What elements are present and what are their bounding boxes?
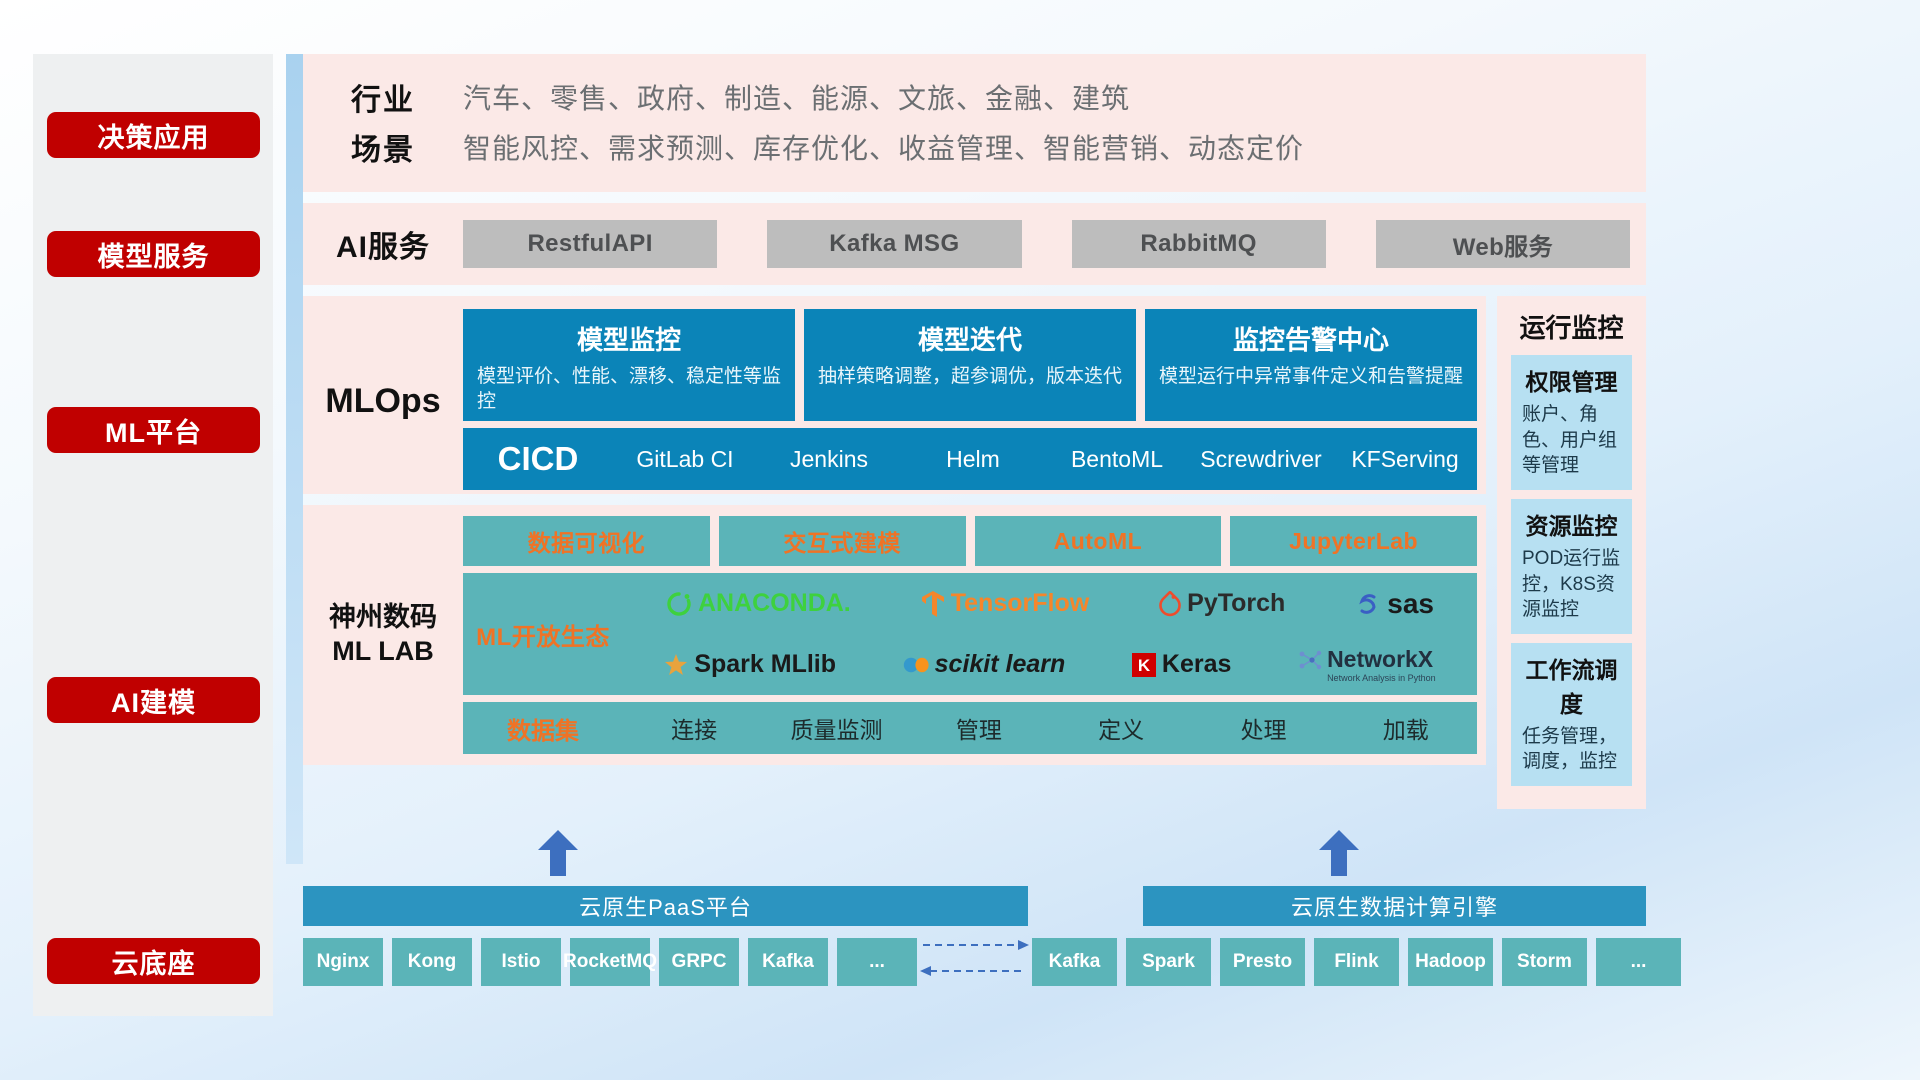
up-arrow-paas-icon	[538, 830, 578, 876]
cicd-label: CICD	[463, 440, 613, 478]
industry-row: 行业 汽车、零售、政府、制造、能源、文旅、金融、建筑	[303, 72, 1646, 122]
monitoring-card-permission[interactable]: 权限管理 账户、角色、用户组等管理	[1511, 355, 1632, 490]
spark-mllib-label: Spark MLlib	[694, 650, 836, 679]
card-title: 权限管理	[1522, 363, 1621, 397]
cicd-item-jenkins[interactable]: Jenkins	[757, 447, 901, 471]
ml-ecosystem-logos: ANACONDA. TensorFlow	[623, 573, 1477, 695]
paas-chip-kong[interactable]: Kong	[392, 938, 472, 986]
ai-service-chip-web[interactable]: Web服务	[1376, 220, 1630, 268]
ml-ecosystem-logo-row-2: Spark MLlib scikit learn	[623, 634, 1477, 695]
modeling-tool-tabs: 数据可视化 交互式建模 AutoML JupyterLab	[463, 516, 1477, 566]
card-title: 模型迭代	[818, 320, 1122, 357]
mlops-card-model-iteration[interactable]: 模型迭代 抽样策略调整，超参调优，版本迭代	[804, 309, 1136, 421]
scikit-learn-logo: scikit learn	[903, 650, 1066, 679]
anaconda-logo: ANACONDA.	[666, 589, 851, 618]
scikit-learn-icon	[903, 654, 929, 676]
networkx-label: NetworkX	[1327, 646, 1433, 673]
cloud-bars: 云原生PaaS平台 云原生数据计算引擎	[303, 886, 1646, 926]
paas-chip-grpc[interactable]: GRPC	[659, 938, 739, 986]
scenario-label: 场景	[303, 125, 463, 169]
cicd-bar: CICD GitLab CI Jenkins Helm BentoML Scre…	[463, 428, 1477, 490]
layer-pill-label: 云底座	[112, 942, 196, 981]
layer-pill-label: 模型服务	[98, 235, 210, 274]
paas-chip-nginx[interactable]: Nginx	[303, 938, 383, 986]
monitoring-card-workflow[interactable]: 工作流调度 任务管理，调度，监控	[1511, 643, 1632, 786]
dataset-item-load[interactable]: 加载	[1335, 711, 1477, 745]
keras-logo: K Keras	[1132, 650, 1232, 679]
anaconda-icon	[666, 591, 692, 617]
engine-chip-group: Kafka Spark Presto Flink Hadoop Storm ..…	[1032, 938, 1681, 986]
pytorch-icon	[1159, 591, 1181, 617]
scikit-learn-label: scikit learn	[935, 650, 1066, 679]
layer-pill-label: ML平台	[105, 411, 202, 450]
card-title: 工作流调度	[1522, 651, 1621, 719]
layer-pill-ml-platform[interactable]: ML平台	[47, 407, 260, 453]
tool-tab-jupyterlab[interactable]: JupyterLab	[1230, 516, 1477, 566]
dataset-item-process[interactable]: 处理	[1192, 711, 1334, 745]
layer-pill-model-service[interactable]: 模型服务	[47, 231, 260, 277]
dataset-row: 数据集 连接 质量监测 管理 定义 处理 加载	[463, 702, 1477, 754]
networkx-logo: NetworkX Network Analysis in Python	[1298, 646, 1436, 683]
dataset-item-connect[interactable]: 连接	[623, 711, 765, 745]
mlops-card-model-monitoring[interactable]: 模型监控 模型评价、性能、漂移、稳定性等监控	[463, 309, 795, 421]
card-desc: 抽样策略调整，超参调优，版本迭代	[818, 364, 1122, 389]
tensorflow-label: TensorFlow	[951, 589, 1089, 618]
pytorch-label: PyTorch	[1187, 589, 1285, 618]
ai-service-items: RestfulAPI Kafka MSG RabbitMQ Web服务	[463, 220, 1646, 268]
main-column: 行业 汽车、零售、政府、制造、能源、文旅、金融、建筑 场景 智能风控、需求预测、…	[303, 54, 1646, 809]
pytorch-logo: PyTorch	[1159, 589, 1285, 618]
cloud-base-section: 云原生PaaS平台 云原生数据计算引擎 Nginx Kong Istio Roc…	[303, 886, 1646, 988]
paas-chip-rocketmq[interactable]: RocketMQ	[570, 938, 650, 986]
mlops-body: 模型监控 模型评价、性能、漂移、稳定性等监控 模型迭代 抽样策略调整，超参调优，…	[463, 309, 1486, 494]
cloud-bar-paas[interactable]: 云原生PaaS平台	[303, 886, 1028, 926]
ml-ecosystem-logo-row-1: ANACONDA. TensorFlow	[623, 573, 1477, 634]
engine-chip-storm[interactable]: Storm	[1502, 938, 1587, 986]
industry-value: 汽车、零售、政府、制造、能源、文旅、金融、建筑	[463, 77, 1130, 117]
ml-lab-label-line2: ML LAB	[332, 635, 434, 669]
cicd-item-screwdriver[interactable]: Screwdriver	[1189, 447, 1333, 471]
cloud-bar-engine[interactable]: 云原生数据计算引擎	[1143, 886, 1646, 926]
bidirectional-dashed-arrows-icon	[917, 935, 1032, 983]
card-title: 监控告警中心	[1159, 320, 1463, 357]
card-title: 模型监控	[477, 320, 781, 357]
sas-logo: sas	[1355, 588, 1434, 620]
keras-icon: K	[1132, 653, 1156, 677]
monitoring-card-resource[interactable]: 资源监控 POD运行监控，K8S资源监控	[1511, 499, 1632, 634]
card-title: 资源监控	[1522, 507, 1621, 541]
mlops-band: MLOps 模型监控 模型评价、性能、漂移、稳定性等监控 模型迭代 抽样策略调整…	[303, 296, 1486, 494]
ml-lab-label-line1: 神州数码	[329, 601, 437, 635]
dataset-item-manage[interactable]: 管理	[908, 711, 1050, 745]
layer-pill-label: 决策应用	[98, 116, 210, 155]
mlops-cards: 模型监控 模型评价、性能、漂移、稳定性等监控 模型迭代 抽样策略调整，超参调优，…	[463, 309, 1477, 421]
card-desc: 模型评价、性能、漂移、稳定性等监控	[477, 364, 781, 414]
cicd-item-helm[interactable]: Helm	[901, 447, 1045, 471]
ai-service-chip-kafka-msg[interactable]: Kafka MSG	[767, 220, 1021, 268]
card-desc: 任务管理，调度，监控	[1522, 724, 1621, 775]
ai-service-band: AI服务 RestfulAPI Kafka MSG RabbitMQ Web服务	[303, 203, 1646, 285]
ml-ecosystem-row: ML开放生态 ANACONDA.	[463, 573, 1477, 695]
up-arrow-engine-icon	[1319, 830, 1359, 876]
mlops-card-alert-center[interactable]: 监控告警中心 模型运行中异常事件定义和告警提醒	[1145, 309, 1477, 421]
engine-chip-flink[interactable]: Flink	[1314, 938, 1399, 986]
engine-chip-hadoop[interactable]: Hadoop	[1408, 938, 1493, 986]
dataset-label: 数据集	[463, 711, 623, 746]
ai-modeling-body: 数据可视化 交互式建模 AutoML JupyterLab ML开放生态	[463, 516, 1486, 754]
spark-icon	[664, 653, 688, 677]
paas-chip-more[interactable]: ...	[837, 938, 917, 986]
dataset-item-quality[interactable]: 质量监测	[765, 711, 907, 745]
networkx-sublabel: Network Analysis in Python	[1327, 673, 1436, 683]
keras-label: Keras	[1162, 650, 1232, 679]
ai-service-chip-restfulapi[interactable]: RestfulAPI	[463, 220, 717, 268]
anaconda-label: ANACONDA.	[698, 589, 851, 618]
cicd-item-bentoml[interactable]: BentoML	[1045, 447, 1189, 471]
spark-mllib-logo: Spark MLlib	[664, 650, 836, 679]
ml-ecosystem-label: ML开放生态	[463, 617, 623, 652]
paas-chip-group: Nginx Kong Istio RocketMQ GRPC Kafka ...	[303, 938, 917, 986]
industry-scenario-band: 行业 汽车、零售、政府、制造、能源、文旅、金融、建筑 场景 智能风控、需求预测、…	[303, 54, 1646, 192]
card-desc: 模型运行中异常事件定义和告警提醒	[1159, 364, 1463, 389]
ml-lab-label: 神州数码 ML LAB	[303, 516, 463, 754]
ai-service-label: AI服务	[303, 222, 463, 266]
paas-chip-istio[interactable]: Istio	[481, 938, 561, 986]
cicd-item-kfserving[interactable]: KFServing	[1333, 447, 1477, 471]
layer-pill-decision-app[interactable]: 决策应用	[47, 112, 260, 158]
layer-pill-cloud-base[interactable]: 云底座	[47, 938, 260, 984]
layer-pill-ai-modeling[interactable]: AI建模	[47, 677, 260, 723]
networkx-icon	[1298, 648, 1322, 672]
tool-tab-automl[interactable]: AutoML	[975, 516, 1222, 566]
layer-pill-label: AI建模	[111, 681, 196, 720]
middle-section: MLOps 模型监控 模型评价、性能、漂移、稳定性等监控 模型迭代 抽样策略调整…	[303, 296, 1646, 809]
cicd-item-gitlab-ci[interactable]: GitLab CI	[613, 447, 757, 471]
svg-text:K: K	[1138, 656, 1151, 675]
card-desc: 账户、角色、用户组等管理	[1522, 402, 1621, 479]
card-desc: POD运行监控，K8S资源监控	[1522, 546, 1621, 623]
chip-gap-arrows	[917, 935, 1032, 988]
dataset-item-define[interactable]: 定义	[1050, 711, 1192, 745]
industry-label: 行业	[303, 75, 463, 119]
engine-chip-kafka[interactable]: Kafka	[1032, 938, 1117, 986]
tensorflow-logo: TensorFlow	[921, 589, 1089, 618]
engine-chip-spark[interactable]: Spark	[1126, 938, 1211, 986]
engine-chip-more[interactable]: ...	[1596, 938, 1681, 986]
ai-service-chip-rabbitmq[interactable]: RabbitMQ	[1072, 220, 1326, 268]
runtime-monitoring-title: 运行监控	[1511, 308, 1632, 345]
vertical-spine	[286, 54, 303, 864]
tensorflow-icon	[921, 590, 945, 618]
cloud-chip-rows: Nginx Kong Istio RocketMQ GRPC Kafka ...	[303, 935, 1646, 988]
tool-tab-data-visualization[interactable]: 数据可视化	[463, 516, 710, 566]
sas-icon	[1355, 591, 1381, 617]
tool-tab-interactive-modeling[interactable]: 交互式建模	[719, 516, 966, 566]
runtime-monitoring-panel: 运行监控 权限管理 账户、角色、用户组等管理 资源监控 POD运行监控，K8S资…	[1497, 296, 1646, 809]
scenario-value: 智能风控、需求预测、库存优化、收益管理、智能营销、动态定价	[463, 127, 1304, 167]
mlops-label: MLOps	[303, 309, 463, 494]
layer-rail: 决策应用 模型服务 ML平台 AI建模 云底座	[33, 54, 273, 1016]
sas-label: sas	[1387, 588, 1434, 620]
engine-chip-presto[interactable]: Presto	[1220, 938, 1305, 986]
architecture-diagram: 决策应用 模型服务 ML平台 AI建模 云底座 行业 汽车、零售、政府、制造、能…	[0, 0, 1920, 1080]
scenario-row: 场景 智能风控、需求预测、库存优化、收益管理、智能营销、动态定价	[303, 122, 1646, 172]
paas-chip-kafka[interactable]: Kafka	[748, 938, 828, 986]
platform-column: MLOps 模型监控 模型评价、性能、漂移、稳定性等监控 模型迭代 抽样策略调整…	[303, 296, 1486, 809]
ai-modeling-band: 神州数码 ML LAB 数据可视化 交互式建模 AutoML JupyterLa…	[303, 505, 1486, 765]
